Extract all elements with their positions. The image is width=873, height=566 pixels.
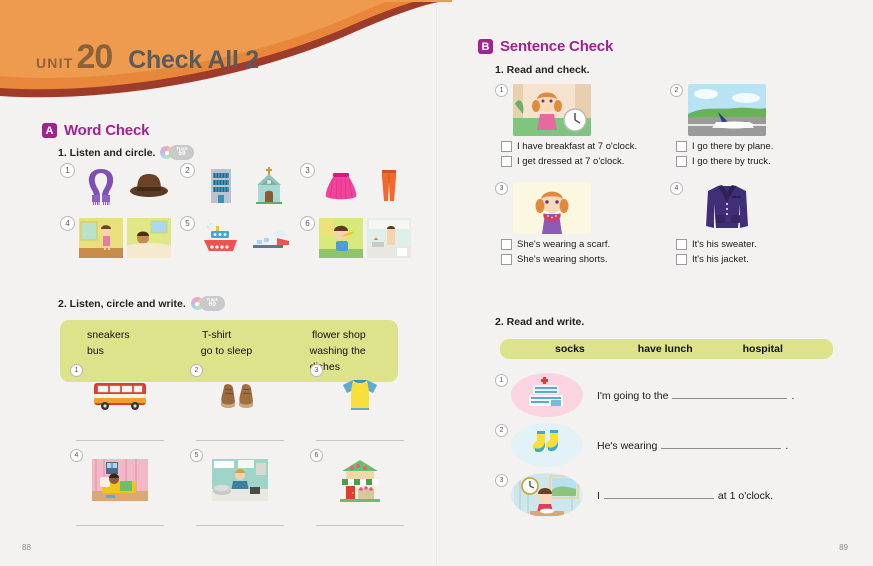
go-to-sleep-photo bbox=[92, 459, 148, 501]
checkbox[interactable] bbox=[676, 156, 687, 167]
section-b-header: B Sentence Check bbox=[478, 38, 613, 55]
brush-teeth-photo[interactable] bbox=[319, 218, 363, 258]
option-row[interactable]: It's his sweater. bbox=[676, 239, 845, 250]
item-number: 2 bbox=[180, 163, 195, 178]
track-pill: Track 59 bbox=[169, 145, 194, 160]
page-title: Check All 2 bbox=[128, 46, 259, 75]
wake-up-photo[interactable] bbox=[127, 218, 171, 258]
checkbox[interactable] bbox=[501, 239, 512, 250]
item-picture bbox=[202, 372, 278, 418]
answer-blank[interactable] bbox=[604, 488, 714, 499]
option-label: She's wearing shorts. bbox=[517, 254, 608, 265]
item-number: 1 bbox=[495, 374, 508, 387]
train-icon[interactable] bbox=[247, 218, 291, 258]
task-b2-wordbank: socks have lunch hospital bbox=[500, 339, 833, 359]
task-a2-grid: 1 2 bbox=[60, 364, 420, 534]
task-b2-label-row: 2. Read and write. bbox=[495, 316, 584, 328]
item-header: 3 bbox=[495, 182, 670, 234]
item-number: 1 bbox=[495, 84, 508, 97]
item-options: It's his sweater. It's his jacket. bbox=[676, 239, 845, 265]
task-b2-item: 3 bbox=[495, 470, 845, 520]
task-a2-item[interactable]: 6 bbox=[300, 449, 420, 534]
item-number: 4 bbox=[60, 216, 75, 231]
sentence-row: He's wearing . bbox=[597, 438, 788, 452]
checkbox[interactable] bbox=[676, 254, 687, 265]
option-label: I go there by plane. bbox=[692, 141, 773, 152]
item-options: I have breakfast at 7 o'clock. I get dre… bbox=[501, 141, 670, 167]
pants-icon[interactable] bbox=[367, 163, 411, 207]
sentence-after: at 1 o'clock. bbox=[718, 490, 773, 502]
item-pictures bbox=[79, 163, 171, 207]
wordbank-word[interactable]: have lunch bbox=[638, 343, 693, 355]
task-a2-item[interactable]: 2 bbox=[180, 364, 300, 449]
option-label: I get dressed at 7 o'clock. bbox=[517, 156, 624, 167]
item-pictures bbox=[199, 163, 291, 207]
answer-line[interactable] bbox=[196, 440, 284, 441]
track-icon-60: Track 60 bbox=[191, 296, 225, 311]
task-b1-item: 1 bbox=[495, 84, 670, 171]
task-a1-label: 1. Listen and circle. bbox=[58, 147, 155, 159]
answer-line[interactable] bbox=[316, 525, 404, 526]
item-pictures bbox=[319, 216, 411, 260]
answer-blank[interactable] bbox=[672, 388, 787, 399]
item-number: 6 bbox=[300, 216, 315, 231]
sentence-after: . bbox=[791, 390, 794, 402]
workbook-spread: UNIT 20 Check All 2 A Word Check 1. List… bbox=[0, 0, 873, 566]
task-a2-item[interactable]: 3 bbox=[300, 364, 420, 449]
task-a2-row: 4 bbox=[60, 449, 420, 534]
sentence-row: I at 1 o'clock. bbox=[597, 488, 773, 502]
wordbank-word[interactable]: hospital bbox=[743, 343, 783, 355]
section-a-badge: A bbox=[42, 123, 57, 138]
answer-line[interactable] bbox=[76, 440, 164, 441]
answer-line[interactable] bbox=[76, 525, 164, 526]
page-number-left: 88 bbox=[22, 543, 31, 552]
wordbank-word[interactable]: flower shop bbox=[312, 327, 366, 343]
wordbank-word[interactable]: sneakers bbox=[60, 327, 202, 343]
item-picture bbox=[82, 372, 158, 418]
church-icon[interactable] bbox=[247, 163, 291, 207]
task-b1-row: 1 bbox=[495, 84, 845, 171]
task-b1-label-row: 1. Read and check. bbox=[495, 64, 590, 76]
task-b2-label: 2. Read and write. bbox=[495, 316, 584, 328]
task-a1-row: 4 bbox=[60, 216, 420, 260]
sentence-row: I'm going to the . bbox=[597, 388, 794, 402]
task-b1-item: 4 bbox=[670, 182, 845, 269]
option-label: She's wearing a scarf. bbox=[517, 239, 610, 250]
sentence-after: . bbox=[785, 440, 788, 452]
item-number: 5 bbox=[180, 216, 195, 231]
sneakers-icon bbox=[212, 375, 268, 415]
unit-label: UNIT bbox=[36, 55, 73, 71]
item-number: 2 bbox=[670, 84, 683, 97]
flower-shop-icon bbox=[332, 458, 388, 502]
checkbox[interactable] bbox=[676, 141, 687, 152]
scarf-icon[interactable] bbox=[79, 163, 123, 207]
item-pictures bbox=[199, 216, 291, 260]
cooking-photo[interactable] bbox=[367, 218, 411, 258]
item-pictures bbox=[79, 216, 171, 260]
item-number: 3 bbox=[495, 182, 508, 195]
item-options: I go there by plane. I go there by truck… bbox=[676, 141, 845, 167]
task-a2-item[interactable]: 1 bbox=[60, 364, 180, 449]
option-row[interactable]: I go there by plane. bbox=[676, 141, 845, 152]
airplane-photo bbox=[688, 84, 766, 136]
task-a1-row: 1 bbox=[60, 163, 420, 207]
task-b1-grid: 1 bbox=[495, 84, 845, 280]
checkbox[interactable] bbox=[676, 239, 687, 250]
checkbox[interactable] bbox=[501, 156, 512, 167]
answer-line[interactable] bbox=[316, 440, 404, 441]
section-a-title: Word Check bbox=[64, 122, 149, 139]
task-b1-label: 1. Read and check. bbox=[495, 64, 590, 76]
task-b2-item: 1 I'm going to the . bbox=[495, 370, 845, 420]
sentence-before: He's wearing bbox=[597, 440, 657, 452]
task-a1-label-row: 1. Listen and circle. Track 59 bbox=[58, 145, 194, 160]
having-lunch-picture bbox=[511, 473, 583, 517]
option-row[interactable]: I go there by truck. bbox=[676, 156, 845, 167]
task-a1-item[interactable]: 6 bbox=[300, 216, 420, 260]
task-a1-item[interactable]: 1 bbox=[60, 163, 180, 207]
task-b2-item: 2 He's wearing . bbox=[495, 420, 845, 470]
item-pictures bbox=[319, 163, 411, 207]
checkbox[interactable] bbox=[501, 254, 512, 265]
item-header: 4 bbox=[670, 182, 845, 234]
purple-jacket-icon bbox=[688, 182, 766, 234]
item-number: 3 bbox=[300, 163, 315, 178]
track-number: 59 bbox=[178, 151, 185, 158]
task-b1-row: 3 bbox=[495, 182, 845, 269]
sentence-before: I bbox=[597, 490, 600, 502]
item-options: She's wearing a scarf. She's wearing sho… bbox=[501, 239, 670, 265]
option-label: It's his sweater. bbox=[692, 239, 757, 250]
washing-the-dishes-photo bbox=[212, 459, 268, 501]
option-row[interactable]: She's wearing shorts. bbox=[501, 254, 670, 265]
section-b-title: Sentence Check bbox=[500, 38, 613, 55]
option-row[interactable]: She's wearing a scarf. bbox=[501, 239, 670, 250]
unit-number: 20 bbox=[76, 38, 112, 77]
skirt-icon[interactable] bbox=[319, 163, 363, 207]
section-a-header: A Word Check bbox=[42, 122, 149, 139]
task-a2-row: 1 2 bbox=[60, 364, 420, 449]
girl-with-clock-photo bbox=[513, 84, 591, 136]
option-label: I have breakfast at 7 o'clock. bbox=[517, 141, 637, 152]
section-b-badge: B bbox=[478, 39, 493, 54]
track-number: 60 bbox=[209, 302, 216, 309]
hospital-picture bbox=[511, 373, 583, 417]
hat-icon[interactable] bbox=[127, 163, 171, 207]
item-picture bbox=[82, 457, 158, 503]
task-a2-label: 2. Listen, circle and write. bbox=[58, 298, 186, 310]
task-a2-item[interactable]: 4 bbox=[60, 449, 180, 534]
ship-icon[interactable] bbox=[199, 218, 243, 258]
get-dressed-photo[interactable] bbox=[79, 218, 123, 258]
item-number: 4 bbox=[670, 182, 683, 195]
item-number: 1 bbox=[60, 163, 75, 178]
bank-building-icon[interactable] bbox=[199, 163, 243, 207]
track-pill: Track 60 bbox=[200, 296, 225, 311]
option-row[interactable]: It's his jacket. bbox=[676, 254, 845, 265]
task-b1-item: 2 bbox=[670, 84, 845, 171]
answer-line[interactable] bbox=[196, 525, 284, 526]
socks-picture bbox=[511, 423, 583, 467]
item-header: 2 bbox=[670, 84, 845, 136]
item-picture bbox=[322, 372, 398, 418]
unit-title-block: UNIT 20 Check All 2 bbox=[36, 38, 259, 77]
answer-blank[interactable] bbox=[661, 438, 781, 449]
track-icon-59: Track 59 bbox=[160, 145, 194, 160]
task-b1-item: 3 bbox=[495, 182, 670, 269]
wordbank-row: sneakers T-shirt flower shop bbox=[60, 327, 398, 343]
task-a1-item[interactable]: 5 bbox=[180, 216, 300, 260]
page-number-right: 89 bbox=[839, 543, 848, 552]
task-b2-list: 1 I'm going to the . bbox=[495, 370, 845, 520]
bus-icon bbox=[89, 375, 151, 415]
task-a1-item[interactable]: 3 bbox=[300, 163, 420, 207]
item-header: 1 bbox=[495, 84, 670, 136]
task-a2-item[interactable]: 5 bbox=[180, 449, 300, 534]
girl-wearing-scarf-photo bbox=[513, 182, 591, 234]
task-a2-label-row: 2. Listen, circle and write. Track 60 bbox=[58, 296, 225, 311]
sentence-before: I'm going to the bbox=[597, 390, 668, 402]
item-picture bbox=[202, 457, 278, 503]
wordbank-word[interactable]: socks bbox=[555, 343, 585, 355]
option-row[interactable]: I get dressed at 7 o'clock. bbox=[501, 156, 670, 167]
task-a1-item[interactable]: 2 bbox=[180, 163, 300, 207]
wordbank-word[interactable]: T-shirt bbox=[202, 327, 312, 343]
option-label: I go there by truck. bbox=[692, 156, 771, 167]
task-a1-grid: 1 bbox=[60, 163, 420, 269]
task-a1-item[interactable]: 4 bbox=[60, 216, 180, 260]
option-row[interactable]: I have breakfast at 7 o'clock. bbox=[501, 141, 670, 152]
option-label: It's his jacket. bbox=[692, 254, 749, 265]
t-shirt-icon bbox=[336, 374, 384, 416]
item-number: 3 bbox=[495, 474, 508, 487]
item-picture bbox=[322, 457, 398, 503]
item-number: 2 bbox=[495, 424, 508, 437]
checkbox[interactable] bbox=[501, 141, 512, 152]
